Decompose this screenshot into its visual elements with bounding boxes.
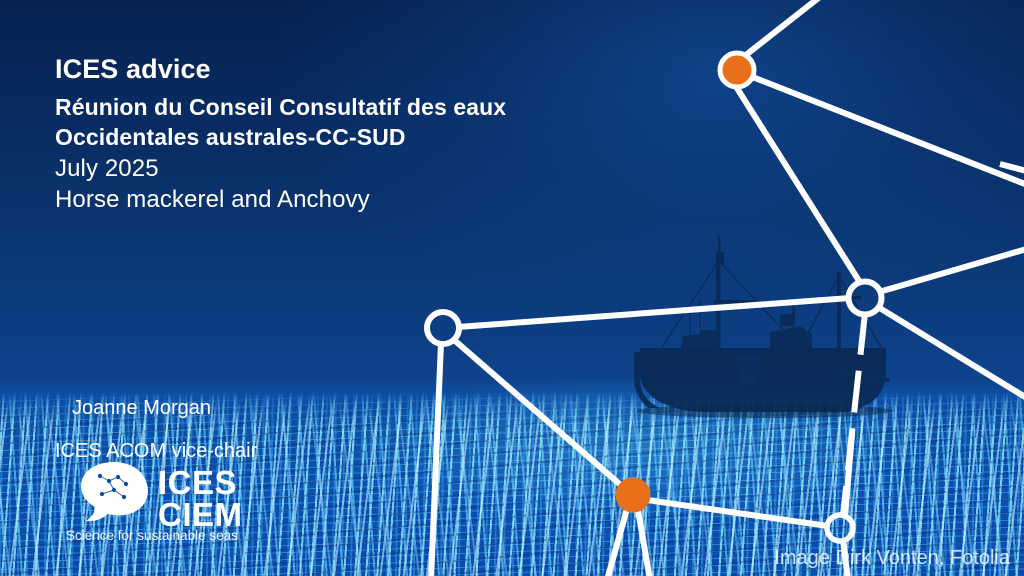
network-node-accent-top bbox=[720, 53, 754, 87]
author-name: Joanne Morgan bbox=[72, 396, 552, 421]
title-block: ICES advice Réunion du Conseil Consultat… bbox=[55, 52, 675, 215]
image-credit: Image Dirk Vonten, Fotolia bbox=[774, 547, 1010, 570]
author-block: Joanne Morgan ICES ACOM vice-chair bbox=[72, 396, 552, 421]
ices-logo: ICES CIEM Science for sustainable seas bbox=[62, 448, 262, 548]
slide-date: July 2025 bbox=[55, 153, 675, 184]
network-node-hollow-left bbox=[427, 312, 459, 344]
presentation-slide: ICES advice Réunion du Conseil Consultat… bbox=[0, 0, 1024, 576]
ices-fish-constellation-icon bbox=[81, 462, 148, 521]
slide-subtitle-line2: Occidentales australes-CC-SUD bbox=[55, 123, 675, 153]
slide-topic: Horse mackerel and Anchovy bbox=[55, 184, 675, 215]
ices-logo-tagline: Science for sustainable seas bbox=[66, 528, 238, 543]
network-node-accent-bottom bbox=[616, 478, 650, 512]
slide-title: ICES advice bbox=[55, 52, 675, 87]
network-node-hollow-bottom bbox=[827, 515, 853, 541]
slide-subtitle-line1: Réunion du Conseil Consultatif des eaux bbox=[55, 93, 675, 123]
